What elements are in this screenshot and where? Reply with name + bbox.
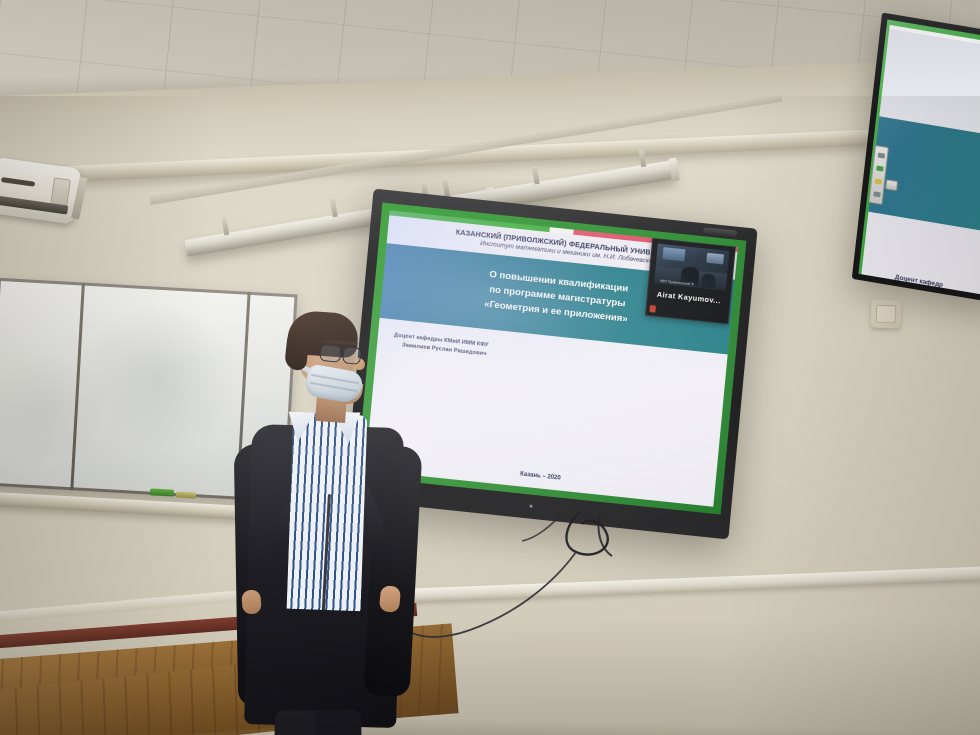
face-mask-fold (310, 382, 358, 392)
presenter (228, 318, 428, 735)
video-window-highlight (662, 247, 685, 261)
wall-switch[interactable] (871, 299, 902, 328)
presenter-leg-right (315, 710, 367, 735)
lecture-room-photo: КАЗАНСКИЙ (ПРИВОЛЖСКИЙ) ФЕДЕРАЛЬНЫЙ УНИВ… (0, 0, 980, 735)
glasses-icon (319, 344, 364, 365)
highlighter-icon[interactable] (876, 165, 883, 171)
shapes-icon[interactable] (873, 191, 880, 197)
recording-badge (649, 305, 656, 313)
presenter-hand-left (241, 589, 262, 614)
green-marker (150, 488, 174, 496)
video-person-silhouette (701, 273, 716, 288)
video-window-highlight (706, 253, 724, 265)
face-mask-fold (311, 374, 359, 384)
eraser-icon[interactable] (874, 178, 881, 184)
video-call-tile[interactable]: КФУ Приволжский Ф. Airat Kayumov... (645, 238, 736, 324)
yellow-marker (176, 491, 196, 498)
air-conditioner (0, 157, 81, 224)
wall-switch-rocker[interactable] (876, 305, 897, 324)
pen-icon[interactable] (877, 152, 884, 158)
glasses-lens-right (342, 346, 362, 365)
glasses-lens-left (319, 344, 342, 363)
slide-city-year: Казань – 2020 (520, 472, 561, 482)
video-call-participant-name: Airat Kayumov... (648, 289, 730, 307)
presenter-legs (264, 710, 376, 735)
video-call-thumbnail[interactable]: КФУ Приволжский Ф. (654, 243, 729, 290)
toolbar-chip[interactable] (885, 179, 898, 191)
